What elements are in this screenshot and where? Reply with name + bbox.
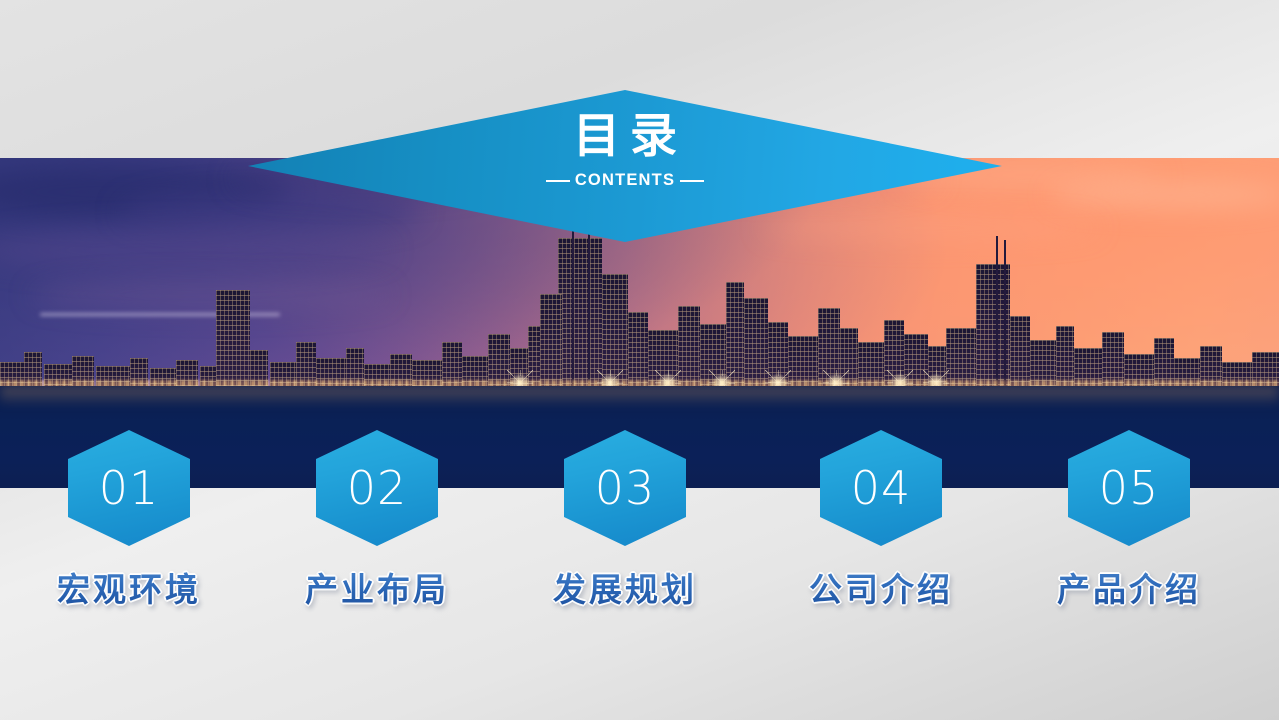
page-subtitle: CONTENTS bbox=[546, 171, 704, 190]
hexagon-badge-02[interactable]: 02 bbox=[316, 430, 438, 546]
hexagon-number-04: 04 bbox=[851, 461, 912, 515]
hexagon-badge-03[interactable]: 03 bbox=[564, 430, 686, 546]
agenda-label-01: 宏观环境 bbox=[57, 563, 201, 611]
agenda-label-02: 产业布局 bbox=[305, 563, 449, 611]
page-subtitle-text: CONTENTS bbox=[575, 171, 675, 190]
hexagon-number-01: 01 bbox=[99, 461, 160, 515]
rule-left bbox=[546, 180, 570, 182]
slide-root: 目录 CONTENTS 01 宏观环境 02 产业布局 03 发展规划 bbox=[0, 0, 1279, 720]
hexagon-number-02: 02 bbox=[347, 461, 408, 515]
hexagon-badge-01[interactable]: 01 bbox=[68, 430, 190, 546]
agenda-item-03[interactable]: 03 发展规划 bbox=[545, 430, 705, 611]
hexagon-badge-05[interactable]: 05 bbox=[1068, 430, 1190, 546]
agenda-label-03: 发展规划 bbox=[553, 563, 697, 611]
agenda-list: 01 宏观环境 02 产业布局 03 发展规划 04 公司介绍 05 bbox=[0, 430, 1279, 645]
cloud bbox=[1050, 182, 1279, 208]
agenda-label-05: 产品介绍 bbox=[1057, 563, 1201, 611]
agenda-item-04[interactable]: 04 公司介绍 bbox=[801, 430, 961, 611]
agenda-item-01[interactable]: 01 宏观环境 bbox=[49, 430, 209, 611]
agenda-item-02[interactable]: 02 产业布局 bbox=[297, 430, 457, 611]
agenda-item-05[interactable]: 05 产品介绍 bbox=[1049, 430, 1209, 611]
page-title: 目录 bbox=[563, 112, 687, 161]
hexagon-number-05: 05 bbox=[1099, 461, 1160, 515]
hexagon-badge-04[interactable]: 04 bbox=[820, 430, 942, 546]
rule-right bbox=[680, 180, 704, 182]
agenda-label-04: 公司介绍 bbox=[809, 563, 953, 611]
hexagon-number-03: 03 bbox=[595, 461, 656, 515]
